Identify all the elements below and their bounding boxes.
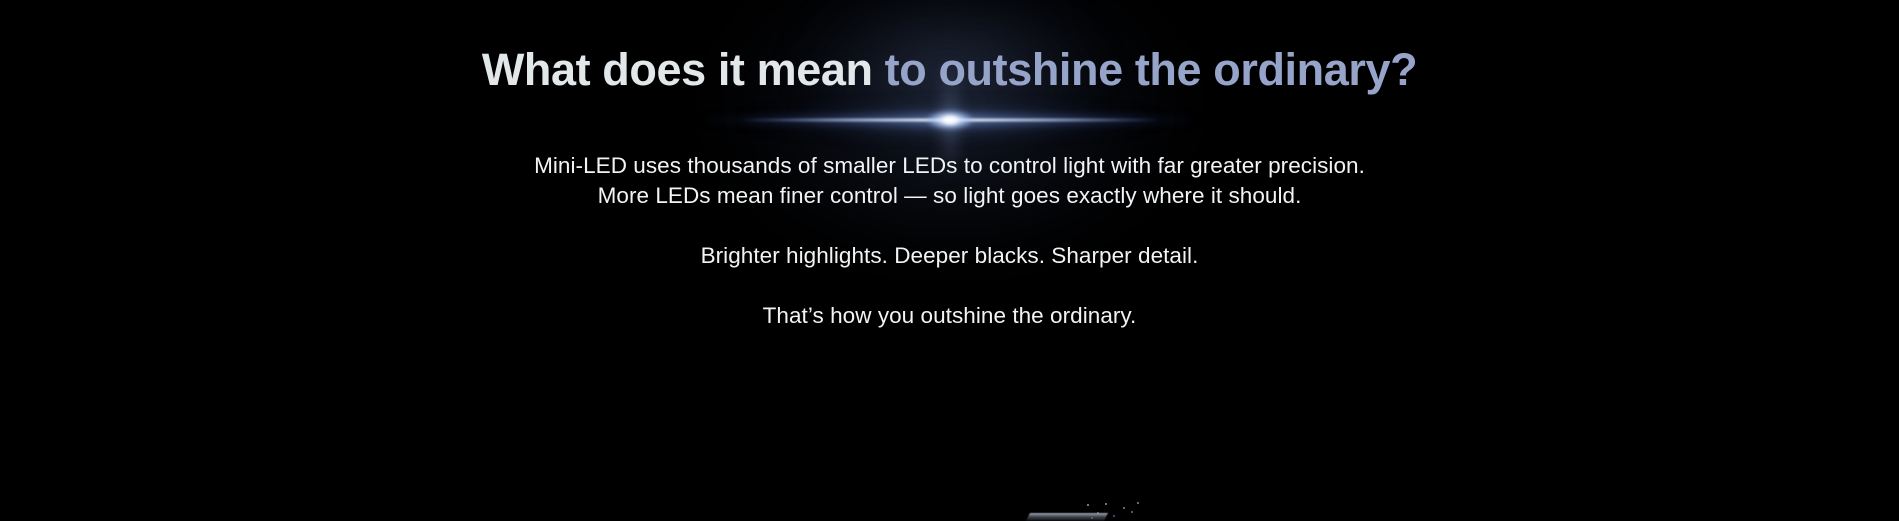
headline-segment-light: What does it mean xyxy=(482,44,885,95)
body-line-4: That’s how you outshine the ordinary. xyxy=(534,301,1365,331)
page-title: What does it mean to outshine the ordina… xyxy=(482,44,1417,96)
body-line-3: Brighter highlights. Deeper blacks. Shar… xyxy=(534,241,1365,271)
hero-content: What does it mean to outshine the ordina… xyxy=(0,0,1899,521)
body-paragraph-1: Mini-LED uses thousands of smaller LEDs … xyxy=(534,151,1365,211)
body-copy: Mini-LED uses thousands of smaller LEDs … xyxy=(534,151,1365,331)
body-line-1: Mini-LED uses thousands of smaller LEDs … xyxy=(534,151,1365,181)
headline-segment-accent: to outshine the ordinary? xyxy=(885,44,1418,95)
body-paragraph-2: Brighter highlights. Deeper blacks. Shar… xyxy=(534,241,1365,271)
hero-stage: What does it mean to outshine the ordina… xyxy=(0,0,1899,521)
body-paragraph-3: That’s how you outshine the ordinary. xyxy=(534,301,1365,331)
body-line-2: More LEDs mean finer control — so light … xyxy=(534,181,1365,211)
